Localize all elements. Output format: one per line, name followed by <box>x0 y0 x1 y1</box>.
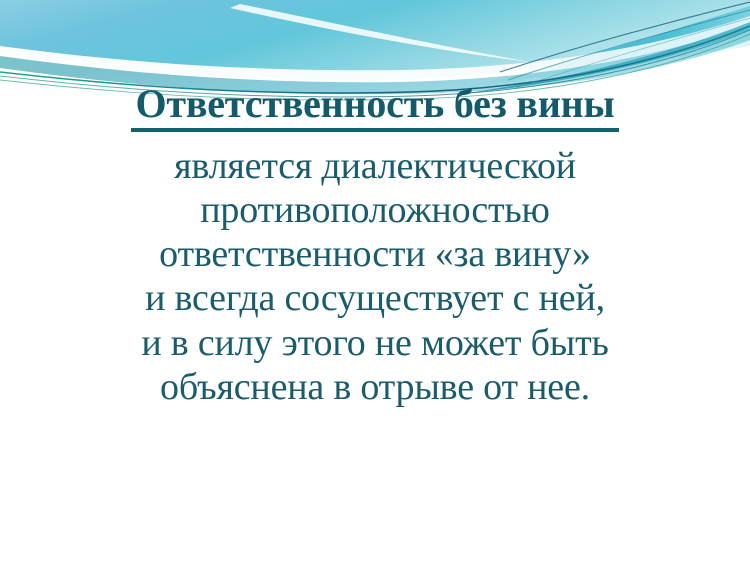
body-line: является диалектической <box>0 144 750 188</box>
body-line: противоположностью <box>0 188 750 232</box>
slide: Ответственность без вины является диалек… <box>0 0 750 561</box>
body-text-block: является диалектической противоположност… <box>0 144 750 408</box>
slide-content: Ответственность без вины является диалек… <box>0 82 750 409</box>
body-line: и всегда сосуществует с ней, <box>0 276 750 320</box>
body-line: и в силу этого не может быть <box>0 321 750 365</box>
body-line: ответственности «за вину» <box>0 232 750 276</box>
body-line: объяснена в отрыве от нее. <box>0 365 750 409</box>
page-title: Ответственность без вины <box>131 82 618 132</box>
